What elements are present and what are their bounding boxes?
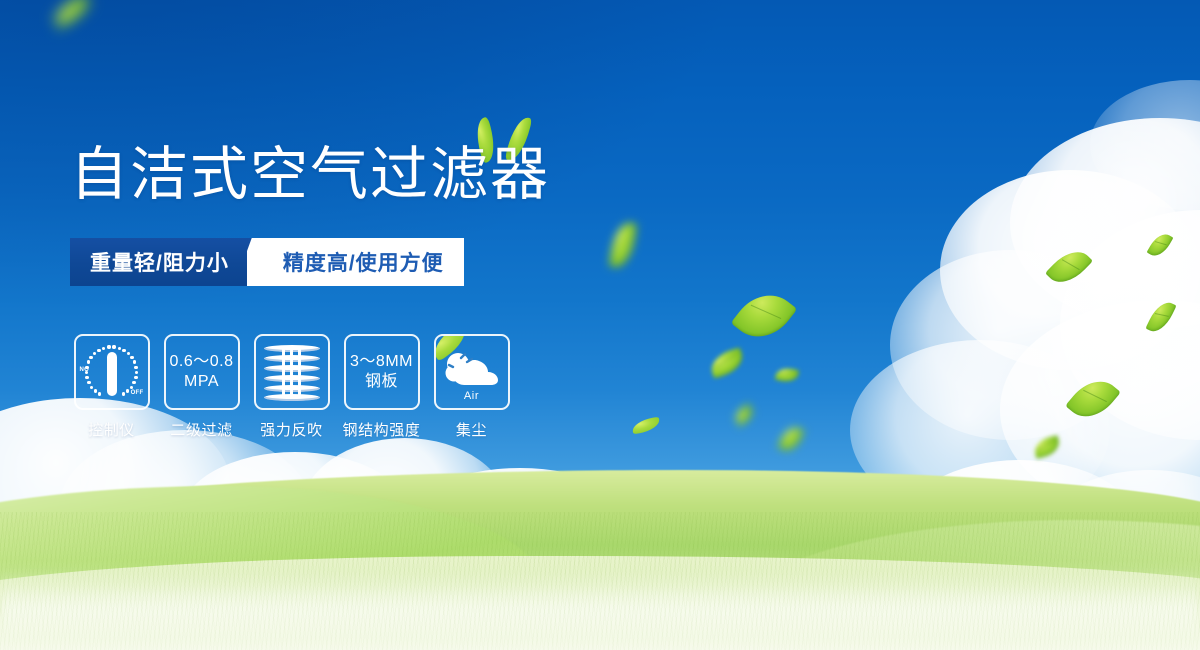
dial-tick-dot (130, 386, 133, 389)
stack-bar (290, 347, 293, 397)
subtitle-slash-divider (247, 238, 273, 286)
stack-bar (298, 347, 301, 397)
dial-tick-dot (85, 376, 88, 379)
feature-label: 二级过滤 (170, 419, 232, 440)
filter-stack-icon (264, 343, 320, 401)
dial-tick-dot (130, 356, 133, 359)
dial-tick-dot (118, 347, 121, 350)
dial-tick-dot (107, 345, 110, 348)
dial-tick-dot (122, 392, 125, 395)
feature-item-backblow[interactable]: 强力反吹 (250, 334, 333, 440)
air-cloud-icon: Air (441, 343, 503, 401)
feature-item-control-dial[interactable]: NO OFF 控制仪 (70, 334, 153, 440)
feature-label: 钢结构强度 (342, 419, 420, 440)
feature-icon-box: Air (434, 334, 510, 410)
feature-label: 集尘 (456, 419, 487, 440)
dial-tick-dot (90, 386, 93, 389)
feature-icon-box: 0.6～0.8 MPA (164, 334, 240, 410)
dial-tick-dot (85, 371, 88, 374)
dial-tick-dot (89, 356, 92, 359)
feature-icon-box: NO OFF (74, 334, 150, 410)
feature-icon-box: 3～8MM 钢板 (344, 334, 420, 410)
dial-tick-dot (126, 389, 129, 392)
dial-tick-dot (85, 366, 88, 369)
dial-tick-dot (132, 381, 135, 384)
dial-tick-dot (135, 371, 138, 374)
feature-label: 强力反吹 (260, 419, 322, 440)
subtitle-left-segment: 重量轻/阻力小 (70, 238, 247, 286)
subtitle-bar: 重量轻/阻力小 精度高/使用方便 (70, 238, 464, 286)
cloud-glyph-icon (441, 345, 503, 393)
dial-off-label: OFF (131, 390, 144, 396)
stack-bar (282, 347, 285, 397)
dial-tick-dot (102, 347, 105, 350)
dial-tick-dot (133, 360, 136, 363)
feature-item-pressure[interactable]: 0.6～0.8 MPA 二级过滤 (160, 334, 243, 440)
subtitle-right-segment: 精度高/使用方便 (273, 238, 464, 286)
dial-tick-dot (122, 349, 125, 352)
dial-tick-dot (94, 389, 97, 392)
dial-tick-dot (127, 352, 130, 355)
feature-label: 控制仪 (88, 419, 135, 440)
pressure-text-icon: 0.6～0.8 MPA (170, 352, 234, 391)
dial-tick-dot (93, 352, 96, 355)
dial-tick-dot (87, 360, 90, 363)
feature-list: NO OFF 控制仪 0.6～0.8 MPA 二级过滤 (70, 334, 513, 440)
page-title: 自洁式空气过滤器 (70, 144, 550, 205)
dial-tick-dot (134, 366, 137, 369)
dial-tick-dot (98, 392, 101, 395)
dial-tick-dot (87, 381, 90, 384)
steel-plate-text-icon: 3～8MM 钢板 (350, 352, 413, 391)
dial-needle-icon (107, 352, 117, 396)
air-label: Air (441, 390, 503, 402)
product-hero-banner: 自洁式空气过滤器 重量轻/阻力小 精度高/使用方便 NO OFF 控制仪 0.6… (0, 0, 1200, 650)
dial-tick-dot (112, 345, 115, 348)
feature-item-steel[interactable]: 3～8MM 钢板 钢结构强度 (340, 334, 423, 440)
grass-bottom-fade (0, 560, 1200, 650)
feature-icon-box (254, 334, 330, 410)
dial-tick-dot (134, 376, 137, 379)
feature-item-dust[interactable]: Air 集尘 (430, 334, 513, 440)
dial-tick-dot (97, 349, 100, 352)
control-dial-icon: NO OFF (80, 341, 144, 403)
